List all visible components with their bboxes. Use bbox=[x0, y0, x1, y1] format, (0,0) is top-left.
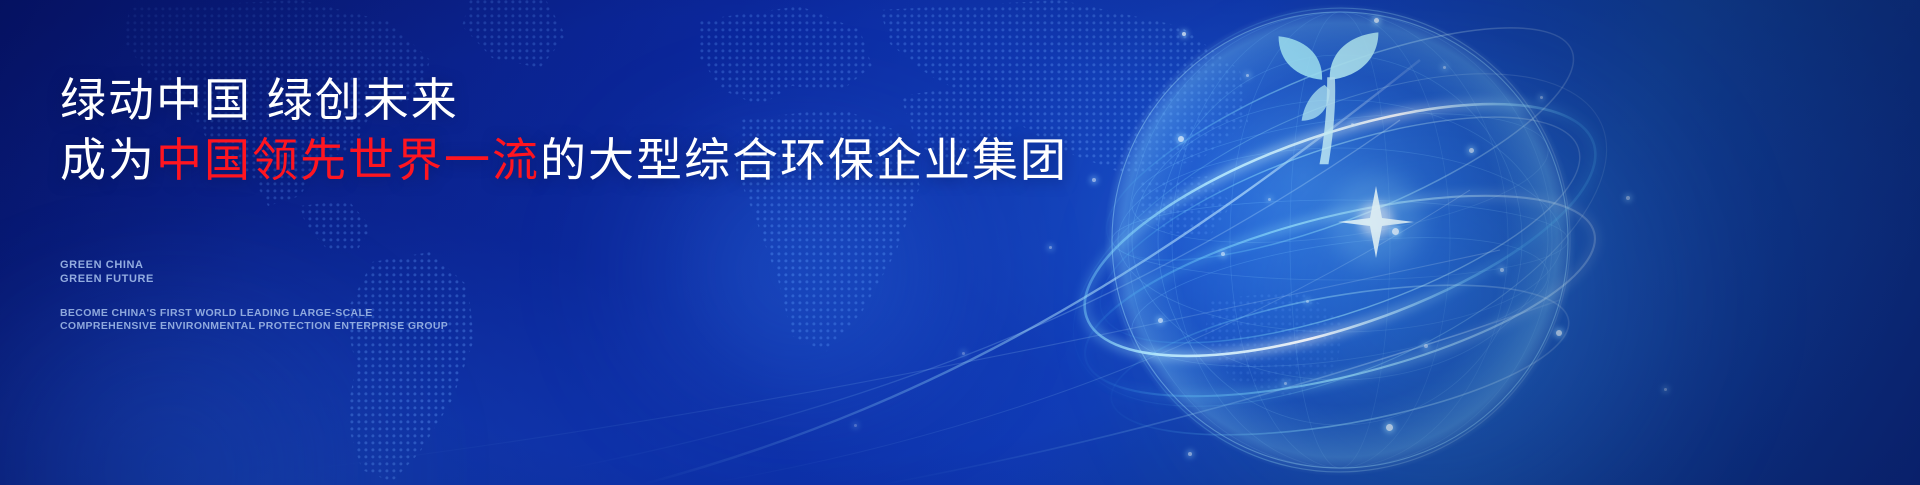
description-en-line-2: COMPREHENSIVE ENVIRONMENTAL PROTECTION E… bbox=[60, 320, 448, 333]
headline-line-2: 成为中国领先世界一流的大型综合环保企业集团 bbox=[60, 132, 1040, 188]
headline-line-1: 绿动中国 绿创未来 bbox=[60, 72, 1040, 128]
subtitle-en-line-1: GREEN CHINA bbox=[60, 258, 154, 272]
hero-banner: 绿动中国 绿创未来 成为中国领先世界一流的大型综合环保企业集团 GREEN CH… bbox=[0, 0, 1920, 485]
ambient-glow-globe bbox=[1080, 40, 1780, 485]
subtitle-en-line-2: GREEN FUTURE bbox=[60, 272, 154, 286]
headline-line-2-prefix: 成为 bbox=[60, 134, 156, 186]
headline-line-2-suffix: 的大型综合环保企业集团 bbox=[540, 134, 1068, 186]
headline-line-2-highlight: 中国领先世界一流 bbox=[156, 134, 540, 186]
description-en-line-1: BECOME CHINA'S FIRST WORLD LEADING LARGE… bbox=[60, 307, 448, 320]
sprout-icon bbox=[1279, 32, 1379, 164]
subtitle-en-block: GREEN CHINA GREEN FUTURE bbox=[60, 258, 154, 286]
headline-block: 绿动中国 绿创未来 成为中国领先世界一流的大型综合环保企业集团 bbox=[60, 72, 1040, 188]
description-en-block: BECOME CHINA'S FIRST WORLD LEADING LARGE… bbox=[60, 307, 448, 333]
wireframe-globe bbox=[1030, 0, 1650, 485]
